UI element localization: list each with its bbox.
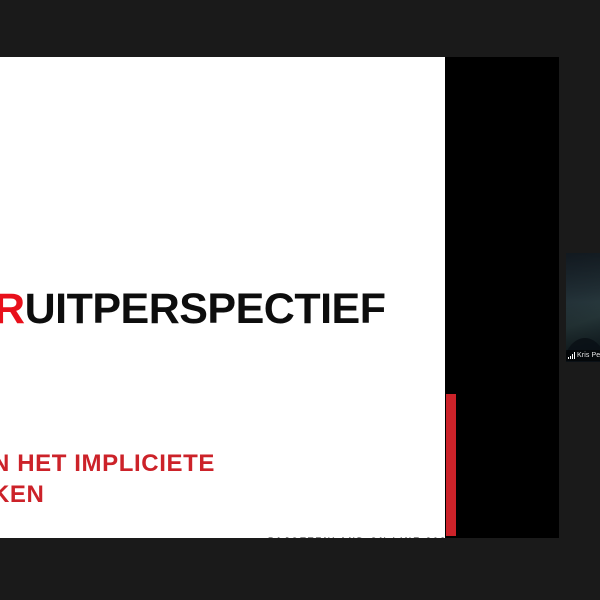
slide-title: RUITPERSPECTIEF <box>0 288 386 331</box>
slide-subtitle-line-1: N HET IMPLICIETE <box>0 449 215 480</box>
slide-title-text: UITPERSPECTIEF <box>25 285 386 333</box>
video-conference-window: RUITPERSPECTIEF N HET IMPLICIETE KEN PAJ… <box>0 0 600 600</box>
presentation-slide[interactable]: RUITPERSPECTIEF N HET IMPLICIETE KEN PAJ… <box>0 57 445 538</box>
participant-video-tile[interactable]: Kris Peet <box>566 253 600 362</box>
signal-bars-icon <box>568 352 575 359</box>
participant-nameplate: Kris Peet <box>566 350 600 361</box>
slide-accent-bar <box>446 394 456 536</box>
slide-subtitle-line-2: KEN <box>0 480 215 511</box>
slide-subtitle: N HET IMPLICIETE KEN <box>0 449 215 510</box>
slide-title-accent-fragment: R <box>0 285 25 333</box>
slide-footer-credit: PAJOTTENLAND ON LINE 2021 <box>268 536 445 538</box>
participant-name-label: Kris Peet <box>577 352 600 359</box>
